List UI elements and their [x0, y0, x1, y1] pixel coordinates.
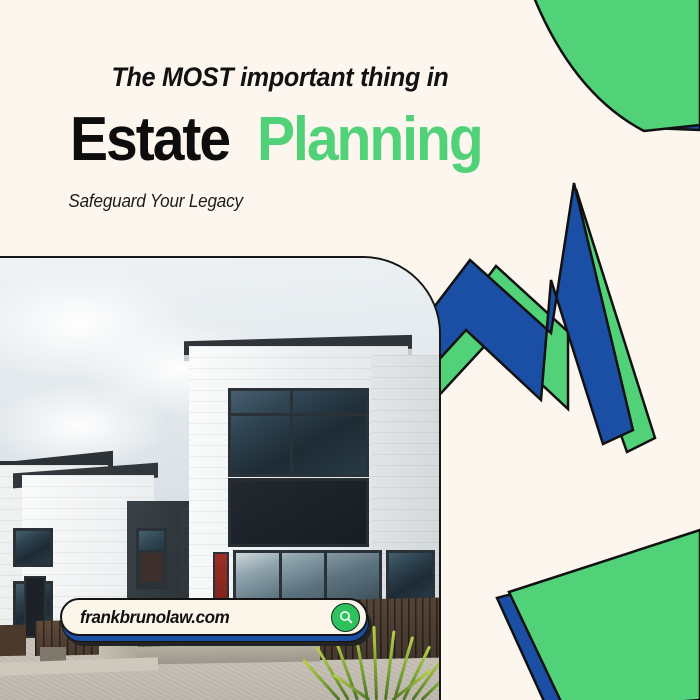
dark-cladding-band [228, 478, 368, 547]
poster-canvas: The MOST important thing in Estate Plann… [0, 0, 700, 700]
retaining-wall [136, 643, 320, 664]
search-bar-face[interactable]: frankbrunolaw.com [60, 598, 368, 636]
headline-block: The MOST important thing in Estate Plann… [0, 62, 560, 212]
page-title: Estate Planning [0, 109, 560, 171]
search-button[interactable] [331, 603, 360, 632]
search-icon [338, 609, 354, 625]
kicker-text: The MOST important thing in [20, 62, 541, 93]
upper-window-glass [231, 391, 365, 473]
mid-unit-window-inner [138, 550, 164, 585]
upper-window [228, 388, 368, 476]
top-right-petal-shadow-shape [640, 0, 700, 130]
lower-window-mullion-1 [279, 553, 282, 602]
lower-window-glass [236, 553, 379, 602]
subtitle-text: Safeguard Your Legacy [0, 191, 532, 212]
title-word-primary: Estate [70, 109, 229, 171]
bottom-right-wedge-shadow-shape [497, 543, 700, 700]
upper-window-mullion-h [231, 413, 365, 416]
search-bar[interactable]: frankbrunolaw.com [60, 598, 372, 646]
lower-window-mullion-2 [324, 553, 327, 602]
bottom-right-wedge-shape [509, 530, 700, 700]
left-unit-window-upper [13, 528, 53, 568]
right-window-glass [389, 553, 431, 600]
timber-fence-far-left [0, 624, 26, 656]
search-input[interactable]: frankbrunolaw.com [80, 607, 323, 628]
left-unit-window-upper-glass [16, 531, 50, 565]
upper-window-mullion-v [290, 391, 293, 473]
title-word-accent: Planning [257, 109, 482, 171]
lower-window [233, 550, 382, 605]
right-window [386, 550, 434, 603]
